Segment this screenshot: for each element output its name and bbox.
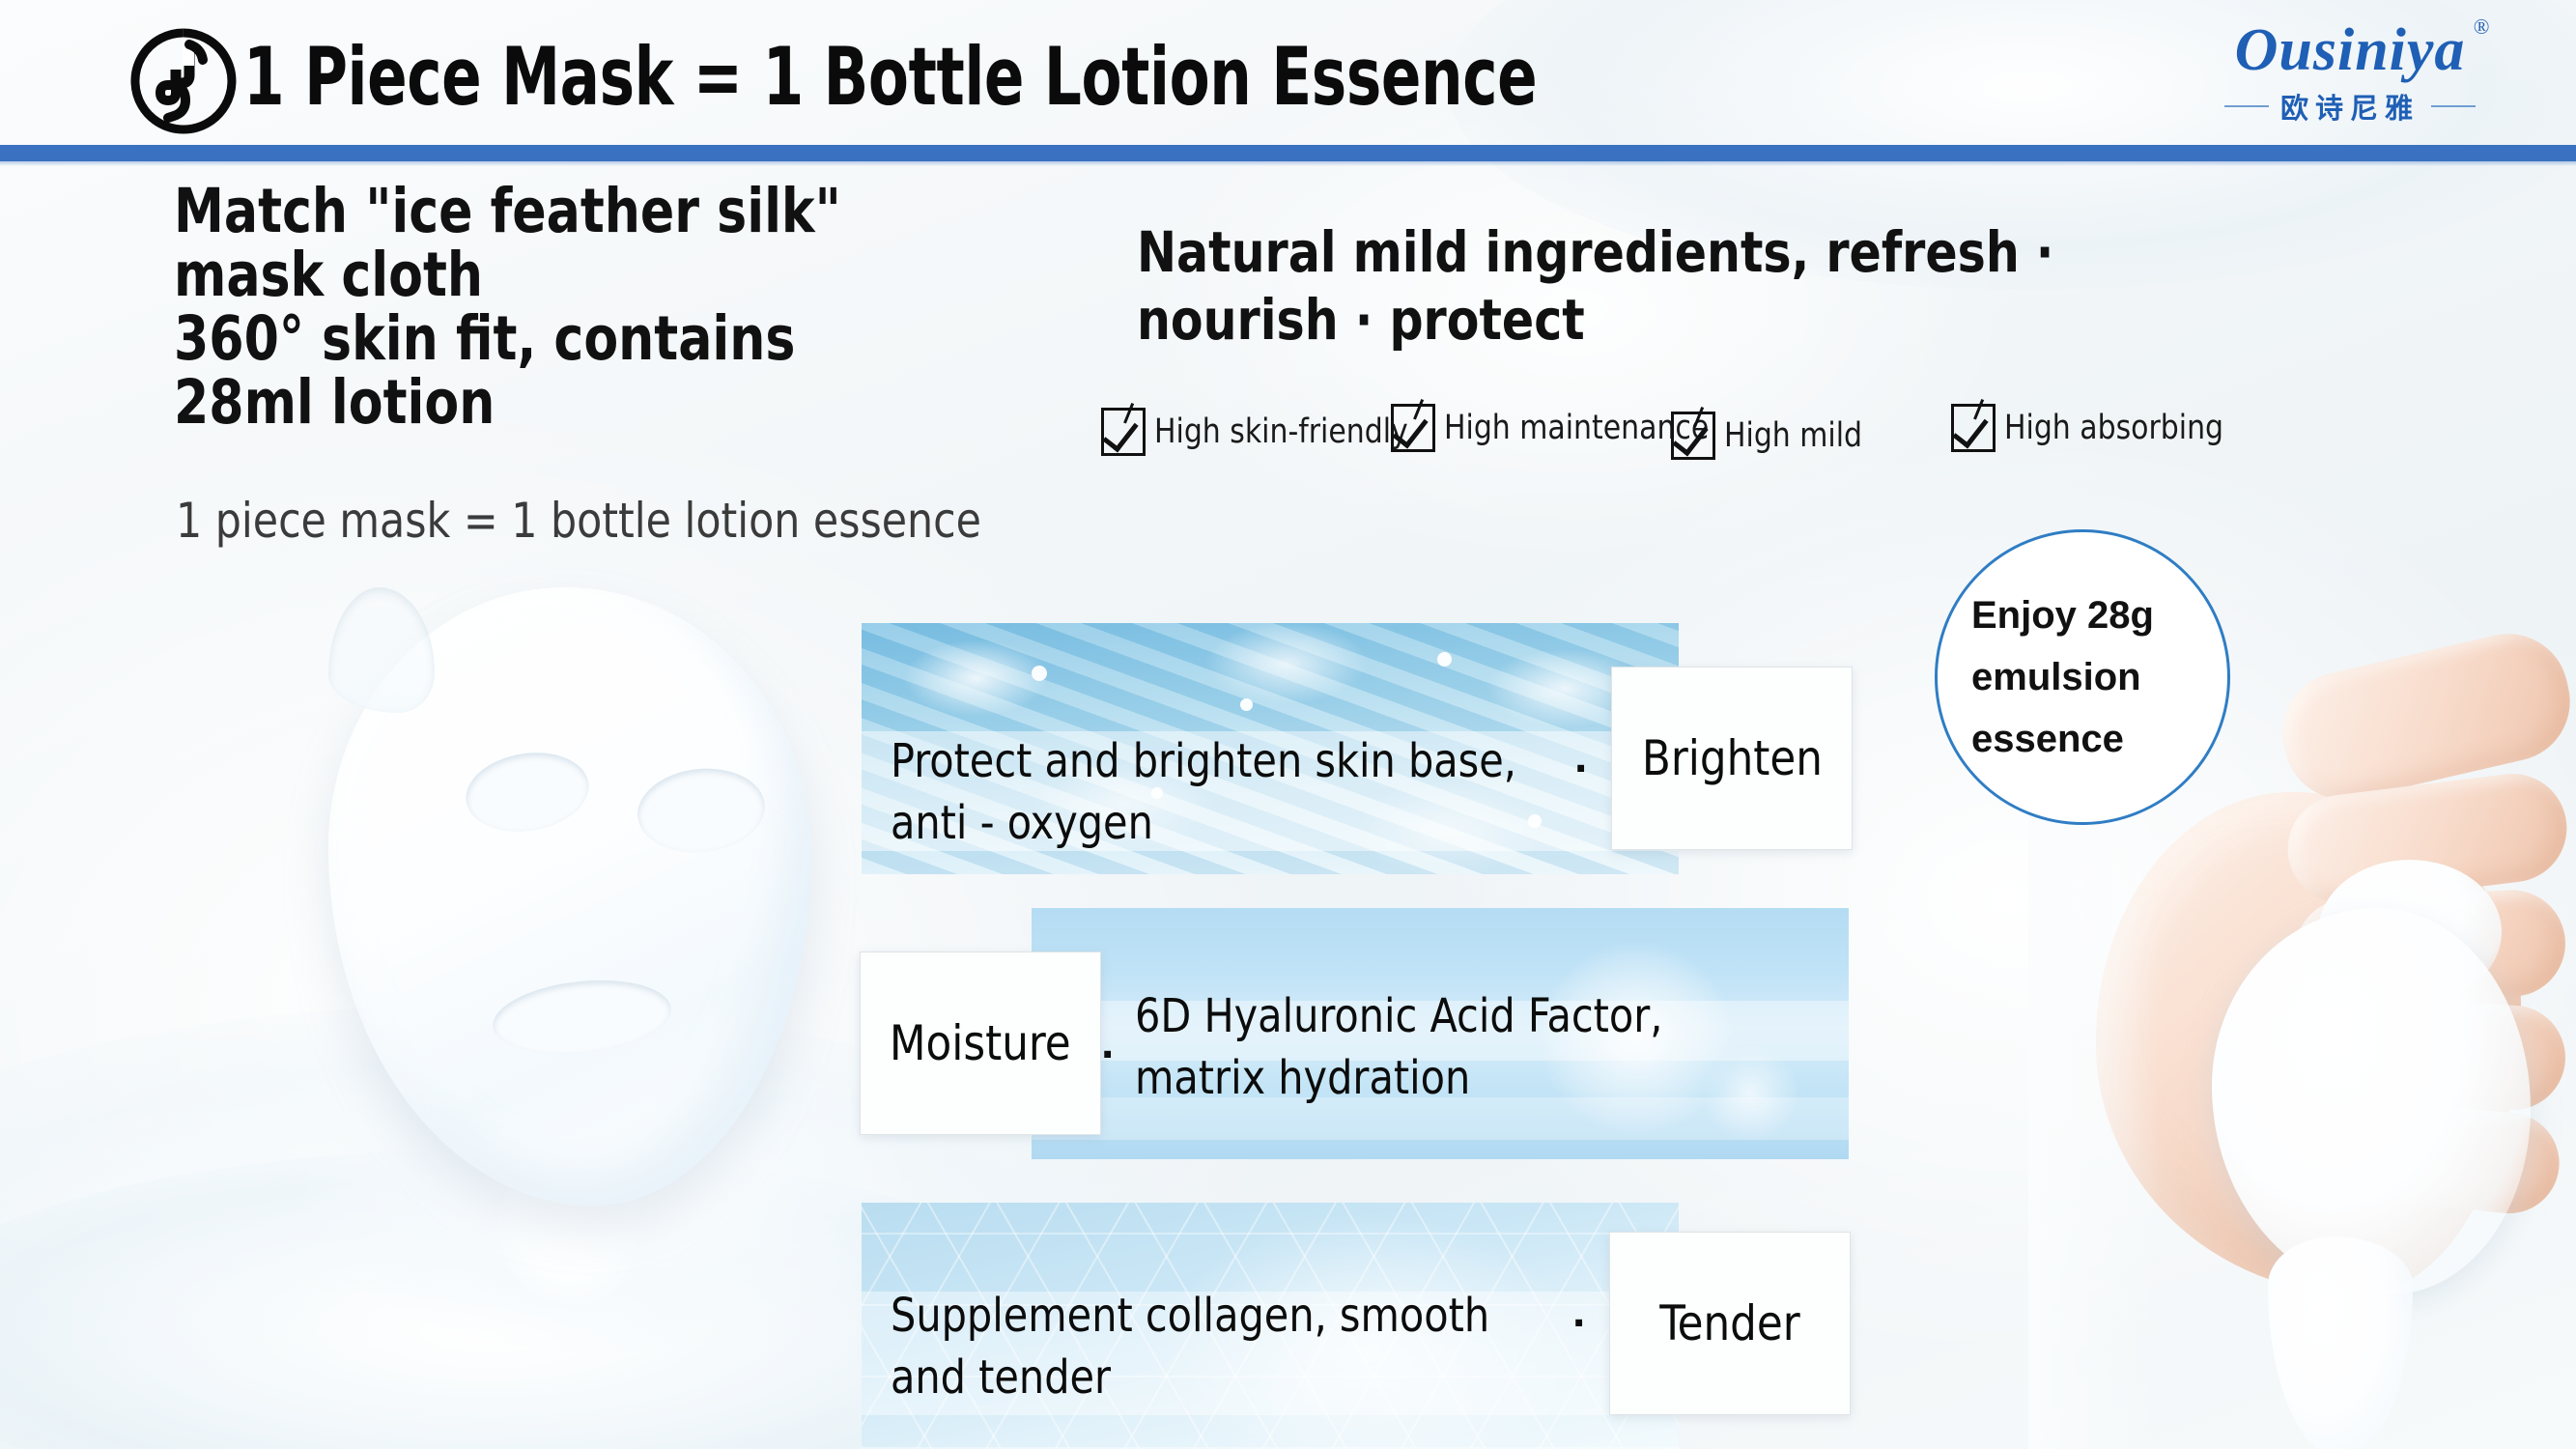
left-headline-line-3: 360° skin fit, contains	[174, 307, 974, 371]
feature-label-brighten: Brighten	[1611, 667, 1853, 850]
page-title: 1 Piece Mask = 1 Bottle Lotion Essence	[243, 23, 1537, 129]
right-heading: Natural mild ingredients, refresh · nour…	[1137, 218, 2154, 354]
header-divider-bar	[0, 145, 2576, 161]
brand-name-text: Ousiniya	[2235, 17, 2466, 83]
mask-eye-hole-right	[634, 762, 769, 858]
header: 1 Piece Mask = 1 Bottle Lotion Essence O…	[0, 0, 2576, 145]
feature-text-line-2: and tender	[891, 1347, 1596, 1408]
rule-left	[2224, 105, 2269, 107]
benefit-checkbox-row: High skin-friendly High maintenance High…	[1101, 404, 2299, 464]
brand-name: Ousiniya ®	[2235, 20, 2466, 80]
sheet-mask-photo	[275, 580, 874, 1352]
mask-mouth-hole	[490, 973, 675, 1063]
mask-eye-hole-left	[461, 744, 595, 839]
emulsion-badge: Enjoy 28g emulsion essence	[1935, 529, 2230, 825]
feature-text-line-1: 6D Hyaluronic Acid Factor,	[1135, 985, 1840, 1047]
feature-label-text: Moisture	[890, 1015, 1071, 1071]
feature-text-brighten: Protect and brighten skin base, anti - o…	[891, 730, 1596, 854]
feature-text-tender: Supplement collagen, smooth and tender	[891, 1285, 1596, 1408]
checkbox-item-high-mild[interactable]: High mild	[1671, 412, 1870, 460]
checkbox-item-high-skin-friendly[interactable]: High skin-friendly	[1101, 408, 1422, 456]
feature-label-text: Tender	[1659, 1295, 1799, 1351]
left-subline: 1 piece mask = 1 bottle lotion essence	[176, 495, 983, 547]
mask-nose-cutout	[328, 587, 435, 713]
left-headline-line-1: Match "ice feather silk"	[174, 180, 974, 243]
feature-text-line-1: Supplement collagen, smooth	[891, 1285, 1596, 1347]
feature-text-line-1: Protect and brighten skin base,	[891, 730, 1596, 792]
checkmark-icon[interactable]	[1391, 404, 1435, 452]
feature-label-moisture: Moisture	[860, 952, 1101, 1135]
circular-monogram-icon	[129, 27, 238, 135]
badge-line-1: Enjoy 28g	[1971, 584, 2194, 646]
feature-text-line-2: matrix hydration	[1135, 1047, 1840, 1109]
brand-logo: Ousiniya ® 欧诗尼雅	[2157, 8, 2543, 139]
left-headline-line-4: 28ml lotion	[174, 371, 974, 435]
right-heading-line-1: Natural mild ingredients, refresh ·	[1137, 218, 2154, 286]
badge-line-3: essence	[1971, 708, 2194, 770]
left-headline: Match "ice feather silk" mask cloth 360°…	[174, 180, 974, 435]
checkmark-icon[interactable]	[1101, 408, 1146, 456]
right-heading-line-2: nourish · protect	[1137, 286, 2154, 354]
checkbox-label: High maintenance	[1444, 409, 1709, 447]
checkbox-item-high-absorbing[interactable]: High absorbing	[1951, 404, 2235, 452]
brand-name-cn-wrap: 欧诗尼雅	[2224, 86, 2476, 127]
checkbox-label: High mild	[1724, 416, 1862, 455]
feature-text-moisture: 6D Hyaluronic Acid Factor, matrix hydrat…	[1135, 985, 1840, 1109]
header-divider-shadow	[0, 161, 2576, 166]
emulsion-badge-text: Enjoy 28g emulsion essence	[1971, 584, 2194, 770]
poster-root: 1 Piece Mask = 1 Bottle Lotion Essence O…	[0, 0, 2576, 1449]
feature-label-text: Brighten	[1642, 730, 1823, 786]
left-headline-line-2: mask cloth	[174, 243, 974, 307]
feature-text-line-2: anti - oxygen	[891, 792, 1596, 854]
checkmark-icon[interactable]	[1671, 412, 1715, 460]
badge-line-2: emulsion	[1971, 646, 2194, 708]
feature-label-tender: Tender	[1609, 1232, 1851, 1415]
checkbox-label: High skin-friendly	[1154, 412, 1408, 451]
checkmark-icon[interactable]	[1951, 404, 1996, 452]
rule-right	[2431, 105, 2476, 107]
brand-name-cn: 欧诗尼雅	[2280, 86, 2420, 127]
feature-dot-moisture: .	[1101, 1016, 1114, 1069]
checkbox-label: High absorbing	[2004, 409, 2223, 447]
registered-trademark-icon: ®	[2474, 16, 2491, 38]
